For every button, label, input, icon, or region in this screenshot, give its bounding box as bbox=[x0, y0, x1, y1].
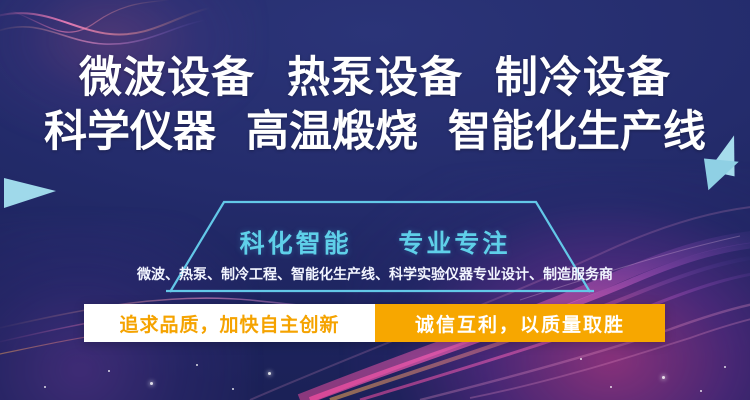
sparkle bbox=[724, 366, 726, 368]
sparkle bbox=[108, 370, 110, 372]
sparkle bbox=[196, 364, 198, 366]
triangle-right-icon bbox=[4, 178, 56, 208]
promo-banner: 微波设备 热泵设备 制冷设备 科学仪器 高温煅烧 智能化生产线 科化智能 专业专… bbox=[0, 0, 750, 400]
bottom-ribbon: 追求品质，加快自主创新 诚信互利，以质量取胜 bbox=[84, 304, 665, 342]
ribbon-right-slogan: 诚信互利，以质量取胜 bbox=[375, 304, 665, 342]
headline-block: 微波设备 热泵设备 制冷设备 科学仪器 高温煅烧 智能化生产线 bbox=[0, 56, 750, 155]
sparkle bbox=[44, 386, 46, 388]
sparkle bbox=[150, 382, 153, 385]
slogan-primary: 科化智能 专业专注 bbox=[0, 224, 750, 260]
sparkle bbox=[700, 390, 702, 392]
sparkle bbox=[268, 372, 271, 375]
slogan-subtitle: 微波、热泵、制冷工程、智能化生产线、科学实验仪器专业设计、制造服务商 bbox=[0, 264, 750, 284]
sparkle bbox=[232, 388, 234, 390]
ribbon-left-slogan: 追求品质，加快自主创新 bbox=[84, 304, 375, 342]
sparkle bbox=[580, 358, 582, 360]
sparkle bbox=[662, 376, 665, 379]
triangle-right-secondary-icon bbox=[704, 154, 742, 190]
headline-line-2: 科学仪器 高温煅烧 智能化生产线 bbox=[0, 110, 750, 155]
sparkle bbox=[610, 386, 612, 388]
headline-line-1: 微波设备 热泵设备 制冷设备 bbox=[0, 56, 750, 101]
